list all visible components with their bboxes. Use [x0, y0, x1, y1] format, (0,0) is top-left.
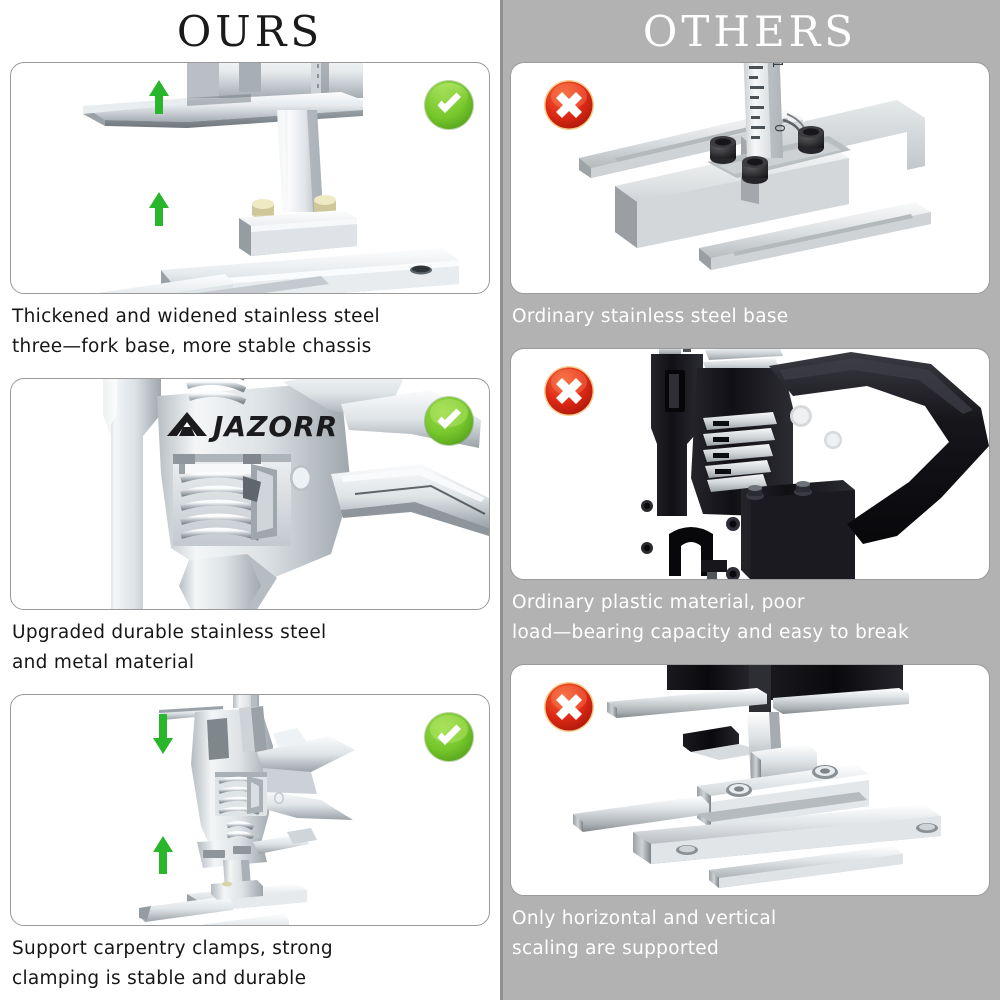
row-others-2: Ordinary plastic material, poor load—bea…	[510, 348, 990, 648]
row-others-1: 1 0	[510, 62, 990, 332]
green-check-badge-icon	[423, 79, 475, 131]
image-three-fork-base	[11, 63, 489, 293]
red-cross-badge-icon	[543, 365, 595, 417]
card-ours-3	[10, 694, 490, 926]
page-title-others: OTHERS	[510, 0, 990, 62]
ruler-mark-1: 1	[769, 63, 784, 68]
card-others-3	[510, 664, 990, 896]
column-ours: OURS	[0, 0, 500, 1000]
bolt	[742, 156, 768, 184]
image-assembled-clamp-jack	[11, 695, 489, 925]
row-others-3: Only horizontal and vertical scaling are…	[510, 664, 990, 964]
caption-others-1: Ordinary stainless steel base	[510, 294, 990, 332]
caption-ours-2: Upgraded durable stainless steel and met…	[10, 610, 490, 678]
page-title-ours: OURS	[10, 0, 490, 62]
row-ours-2: JAZORR	[10, 378, 490, 678]
row-ours-3: Support carpentry clamps, strong clampin…	[10, 694, 490, 994]
caption-others-2: Ordinary plastic material, poor load—bea…	[510, 580, 990, 648]
card-ours-2: JAZORR	[10, 378, 490, 610]
green-check-badge-icon	[423, 395, 475, 447]
red-cross-badge-icon	[543, 79, 595, 131]
arrow-down	[153, 714, 173, 754]
image-clamp-mechanism: JAZORR	[11, 379, 489, 609]
caption-others-3: Only horizontal and vertical scaling are…	[510, 896, 990, 964]
ruler-mark-0: 0	[771, 124, 786, 132]
comparison-page: OURS	[0, 0, 1000, 1000]
card-others-2	[510, 348, 990, 580]
caption-ours-1: Thickened and widened stainless steel th…	[10, 294, 490, 362]
red-cross-badge-icon	[543, 681, 595, 733]
card-others-1: 1 0	[510, 62, 990, 294]
card-ours-1	[10, 62, 490, 294]
arrow-up	[153, 836, 173, 874]
bolt	[710, 136, 736, 164]
arrow-up-bottom	[149, 192, 169, 226]
row-ours-1: Thickened and widened stainless steel th…	[10, 62, 490, 362]
green-check-badge-icon	[423, 711, 475, 763]
bolt	[798, 126, 824, 154]
caption-ours-3: Support carpentry clamps, strong clampin…	[10, 926, 490, 994]
column-others: OTHERS	[500, 0, 1000, 1000]
brand-wordmark: JAZORR	[208, 410, 338, 443]
